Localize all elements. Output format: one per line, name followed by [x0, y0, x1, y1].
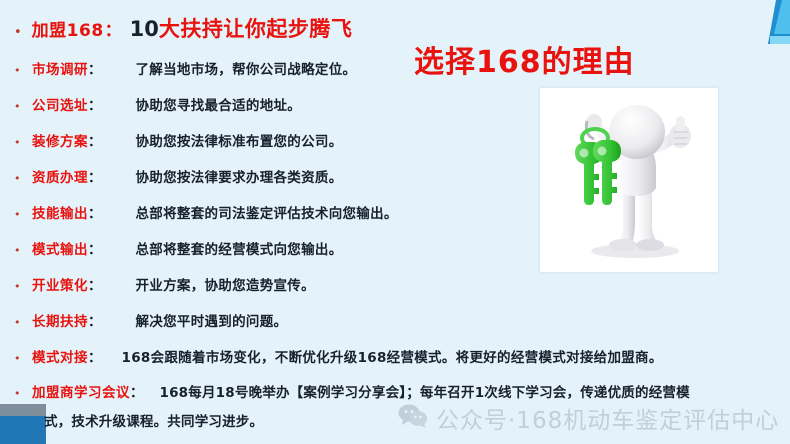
bullet-icon: • [14, 281, 32, 292]
last-block-line1: • 加盟商学习会议 ： 168每月18号晚举办【案例学习分享会】；每年召开1次线… [14, 381, 778, 401]
benefit-row: •长期扶持：解决您平时遇到的问题。 [14, 310, 287, 330]
benefit-row: •开业策化：开业方案，协助您造势宣传。 [14, 274, 315, 294]
benefit-colon: ： [88, 94, 102, 114]
headline-colon: ： [105, 16, 122, 41]
benefit-colon: ： [88, 274, 102, 294]
benefit-colon: ： [88, 346, 102, 366]
benefit-colon: ： [88, 238, 102, 258]
benefit-label: 技能输出 [32, 202, 88, 222]
benefit-description: 协助您按法律要求办理各类资质。 [136, 166, 343, 186]
benefit-label: 模式输出 [32, 238, 88, 258]
corner-decoration [730, 0, 790, 60]
benefit-description: 了解当地市场，帮你公司战略定位。 [136, 58, 357, 78]
benefit-label: 开业策化 [32, 274, 88, 294]
benefit-label: 公司选址 [32, 94, 88, 114]
last-block-label: 加盟商学习会议 [32, 381, 130, 401]
headline-number: 10 [130, 17, 159, 41]
benefit-colon: ： [88, 130, 102, 150]
bullet-icon: • [14, 26, 22, 39]
benefit-colon: ： [88, 310, 102, 330]
bullet-icon: • [14, 173, 32, 184]
bullet-icon: • [14, 245, 32, 256]
last-block-colon: ： [130, 381, 144, 401]
benefit-description: 168会跟随着市场变化，不断优化升级168经营模式。将更好的经营模式对接给加盟商… [122, 346, 663, 366]
benefit-colon: ： [88, 166, 102, 186]
headline-row: • 加盟168 ： 10 大扶持让你起步腾飞 [14, 13, 352, 43]
benefit-colon: ： [88, 58, 102, 78]
benefit-description: 总部将整套的司法鉴定评估技术向您输出。 [136, 202, 398, 222]
bullet-icon: • [14, 137, 32, 148]
slide-canvas: • 加盟168 ： 10 大扶持让你起步腾飞 •市场调研：了解当地市场，帮你公司… [0, 0, 790, 444]
page-title: 选择168的理由 [414, 37, 635, 81]
last-block-text2: 式，技术升级课程。共同学习进步。 [44, 410, 778, 430]
benefit-row: •市场调研：了解当地市场，帮你公司战略定位。 [14, 58, 356, 78]
bullet-icon: • [14, 388, 32, 399]
benefit-description: 开业方案，协助您造势宣传。 [136, 274, 315, 294]
headline-label: 加盟168 [32, 16, 104, 41]
benefit-colon: ： [88, 202, 102, 222]
bullet-icon: • [14, 353, 32, 364]
benefit-label: 装修方案 [32, 130, 88, 150]
benefit-label: 资质办理 [32, 166, 88, 186]
bullet-icon: • [14, 65, 32, 76]
benefit-row: •资质办理：协助您按法律要求办理各类资质。 [14, 166, 343, 186]
last-block-text1: 168每月18号晚举办【案例学习分享会】；每年召开1次线下学习会，传递优质的经营… [160, 381, 690, 401]
bullet-icon: • [14, 101, 32, 112]
figure-image [540, 88, 718, 272]
last-block: • 加盟商学习会议 ： 168每月18号晚举办【案例学习分享会】；每年召开1次线… [14, 381, 778, 430]
bullet-icon: • [14, 209, 32, 220]
benefit-row: •模式输出：总部将整套的经营模式向您输出。 [14, 238, 343, 258]
benefit-row: •技能输出：总部将整套的司法鉴定评估技术向您输出。 [14, 202, 398, 222]
benefit-description: 协助您寻找最合适的地址。 [136, 94, 302, 114]
benefit-description: 协助您按法律标准布置您的公司。 [136, 130, 343, 150]
benefit-row: •模式对接：168会跟随着市场变化，不断优化升级168经营模式。将更好的经营模式… [14, 346, 663, 366]
benefit-description: 总部将整套的经营模式向您输出。 [136, 238, 343, 258]
headline-rest: 大扶持让你起步腾飞 [159, 13, 353, 43]
benefit-row: •公司选址：协助您寻找最合适的地址。 [14, 94, 301, 114]
benefit-label: 模式对接 [32, 346, 88, 366]
benefit-description: 解决您平时遇到的问题。 [136, 310, 288, 330]
benefit-row: •装修方案：协助您按法律标准布置您的公司。 [14, 130, 343, 150]
benefit-label: 长期扶持 [32, 310, 88, 330]
benefit-label: 市场调研 [32, 58, 88, 78]
bullet-icon: • [14, 317, 32, 328]
